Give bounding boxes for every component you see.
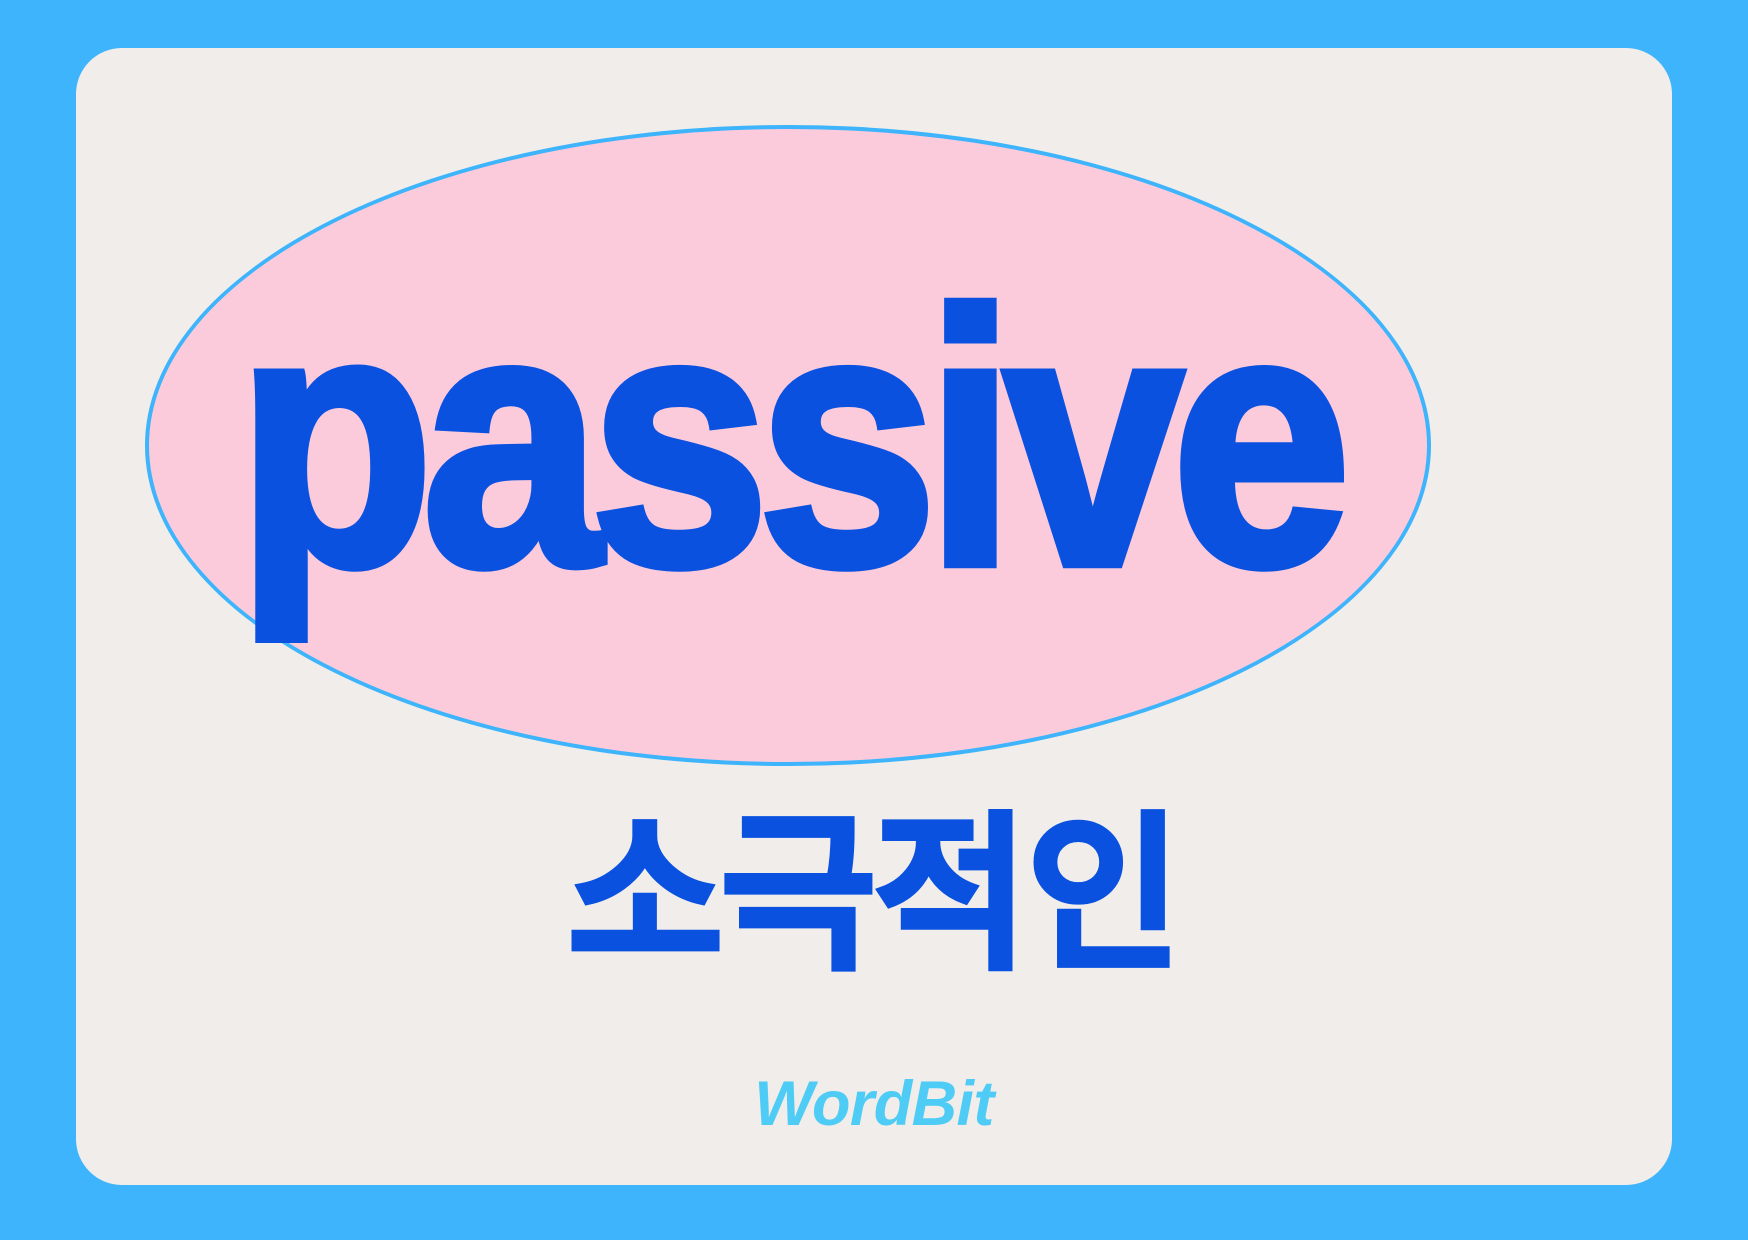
flashcard[interactable]: passive 소극적인 WordBit [76,48,1672,1185]
wordbit-logo: WordBit [76,1068,1672,1140]
vocabulary-term: passive [237,286,1340,592]
word-highlight-ellipse: passive [145,125,1431,766]
vocabulary-translation: 소극적인 [76,810,1672,981]
flashcard-screen: passive 소극적인 WordBit [0,0,1748,1240]
